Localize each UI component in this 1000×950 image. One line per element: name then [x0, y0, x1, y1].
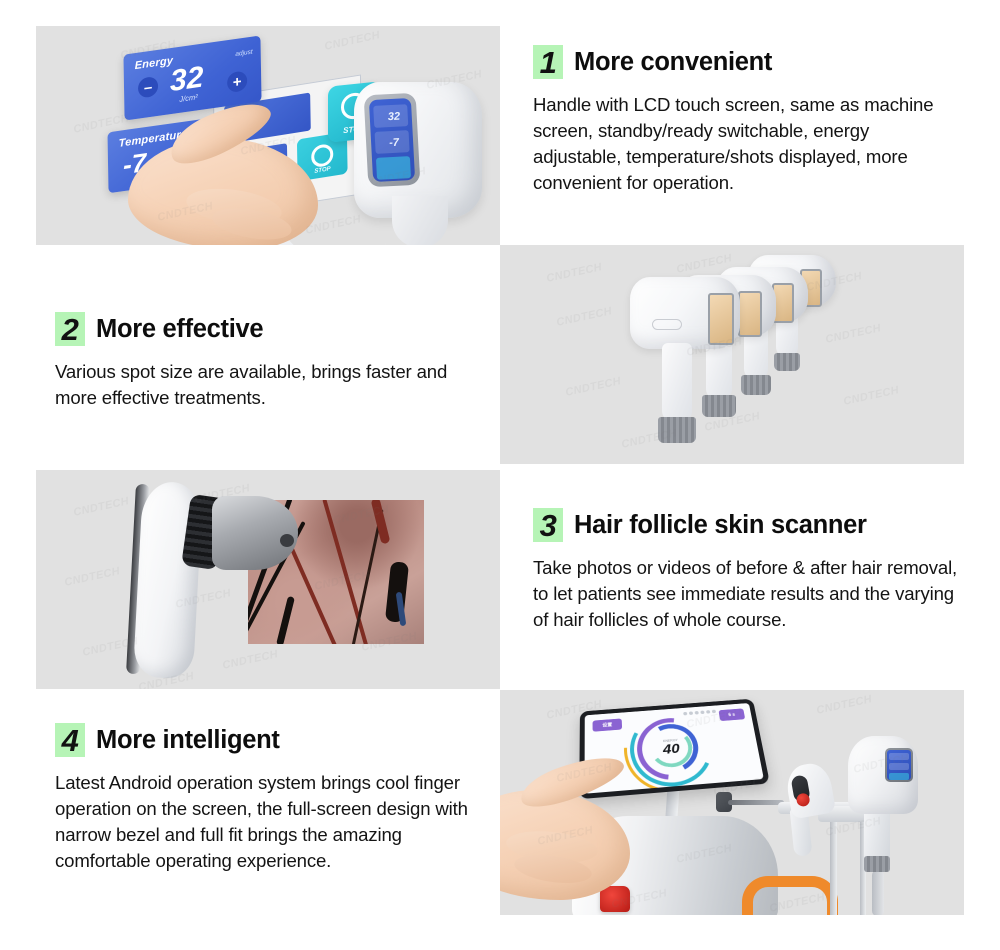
handle-lcd-temp-value: -7 [389, 137, 399, 149]
machine-cord [728, 800, 784, 805]
feature-number-badge-4: 4 [55, 723, 85, 757]
energy-label: Energy [135, 55, 174, 72]
feature-body-3: Take photos or videos of before & after … [533, 555, 963, 633]
large-handpiece-cap [864, 856, 890, 872]
feature-text-1: 1 More convenient Handle with LCD touch … [533, 45, 958, 195]
large-handpiece-neck [864, 806, 890, 862]
handle-lcd-row-ready [376, 156, 411, 180]
infographic-page: Energy 32 Temp -7 STOP Energy adjust – 3… [0, 0, 1000, 950]
gauge-value: 40 [662, 742, 680, 757]
handpiece-1-button[interactable] [652, 319, 682, 330]
feature-heading-1: 1 More convenient [533, 45, 958, 79]
feature-image-3: CNDTECH CNDTECH CNDTECH CNDTECH CNDTECH … [36, 470, 500, 689]
feature-body-4: Latest Android operation system brings c… [55, 770, 485, 873]
feature-heading-4: 4 More intelligent [55, 723, 485, 757]
feature-heading-3: 3 Hair follicle skin scanner [533, 508, 963, 542]
handle-neck [392, 196, 448, 245]
energy-increase-button[interactable]: + [227, 70, 247, 93]
feature-number-badge-2: 2 [55, 312, 85, 346]
energy-value: 32 [170, 63, 204, 98]
large-handpiece-cable [872, 870, 884, 915]
handle-lcd-energy-value: 32 [387, 111, 400, 124]
feature-text-2: 2 More effective Various spot size are a… [55, 312, 485, 411]
gauge-readout: ENERGY 40 [652, 733, 691, 763]
feature-body-1: Handle with LCD touch screen, same as ma… [533, 92, 958, 195]
orange-handle-bar[interactable] [742, 876, 838, 915]
feature-image-1: Energy 32 Temp -7 STOP Energy adjust – 3… [36, 26, 500, 245]
small-handpiece [784, 761, 836, 820]
energy-corner-unit: adjust [235, 49, 252, 58]
stand-pole-left [830, 808, 837, 915]
feature-image-2: CNDTECH CNDTECH CNDTECH CNDTECH CNDTECH … [500, 245, 964, 464]
scanner-lens-icon [280, 534, 294, 547]
handpiece-1-tip [708, 293, 734, 345]
large-handpiece-lcd[interactable] [887, 750, 911, 780]
feature-title-2: More effective [96, 315, 263, 344]
feature-heading-2: 2 More effective [55, 312, 485, 346]
handle-lcd-row-temp: -7 [375, 130, 410, 154]
emergency-stop-button[interactable] [600, 886, 630, 912]
feature-number-badge-3: 3 [533, 508, 563, 542]
feature-title-1: More convenient [574, 48, 772, 77]
feature-title-4: More intelligent [96, 726, 280, 755]
energy-decrease-button[interactable]: – [138, 76, 158, 99]
feature-text-4: 4 More intelligent Latest Android operat… [55, 723, 485, 873]
stop-ring-icon [311, 143, 333, 168]
android-tablet: 设置 6 s ENERGY 40 [579, 699, 770, 800]
feature-text-3: 3 Hair follicle skin scanner Take photos… [533, 508, 963, 633]
scanner-lens-cone [212, 496, 298, 570]
feature-body-2: Various spot size are available, brings … [55, 359, 485, 411]
feature-title-3: Hair follicle skin scanner [574, 511, 867, 540]
large-handpiece-screen-bezel [885, 748, 913, 782]
tablet-chip-right[interactable]: 6 s [719, 708, 746, 721]
tablet-chip-left[interactable]: 设置 [593, 718, 623, 731]
handle-lcd-screen[interactable]: 32 -7 [369, 98, 415, 182]
energy-unit: J/cm² [179, 92, 197, 104]
handle-lcd-row-energy: 32 [373, 104, 408, 128]
handpiece-2-tip [738, 291, 762, 337]
large-handpiece [848, 736, 918, 814]
feature-image-4: 设置 6 s ENERGY 40 [500, 690, 964, 915]
handle-screen-bezel: 32 -7 [364, 93, 421, 188]
feature-number-badge-1: 1 [533, 45, 563, 79]
